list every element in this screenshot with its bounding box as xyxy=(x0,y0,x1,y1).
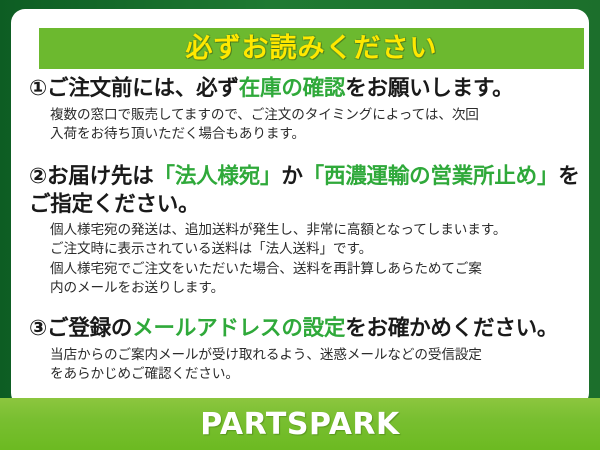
notice-item-2-body: 個人様宅宛の発送は、追加送料が発生し、非常に高額となってしまいます。 ご注文時に… xyxy=(50,221,589,298)
notice-item-2-head-part-2: か xyxy=(281,164,302,189)
notice-item-2-highlight-corporate: 「法人様宛」 xyxy=(154,164,282,189)
notice-item-1-highlight: 在庫の確認 xyxy=(239,76,346,101)
notice-item-1-head-part-0: ご注文前には、必ず xyxy=(47,76,239,101)
footer-bar: PARTSPARK xyxy=(0,398,600,450)
notice-item-3-highlight: メールアドレスの設定 xyxy=(132,316,345,341)
notice-item-1-head-part-2: をお願いします。 xyxy=(345,76,513,101)
notice-item-3-marker: ③ xyxy=(29,316,47,341)
notice-item-1-marker: ① xyxy=(29,76,47,101)
spacer-2 xyxy=(29,300,589,315)
spacer-1 xyxy=(29,146,589,163)
notice-item-2-highlight-seino: 「西濃運輸の営業所止め」 xyxy=(303,164,559,189)
notice-item-3-head-part-0: ご登録の xyxy=(47,316,132,341)
notice-item-3-body: 当店からのご案内メールが受け取れるよう、迷惑メールなどの受信設定 をあらかじめご… xyxy=(50,346,589,385)
notice-item-3-heading: ③ご登録のメールアドレスの設定をお確かめください。 xyxy=(29,315,589,343)
notice-item-1-heading: ①ご注文前には、必ず在庫の確認をお願いします。 xyxy=(29,75,589,103)
notice-banner: 必ずお読みください ①ご注文前には、必ず在庫の確認をお願いします。 複数の窓口で… xyxy=(0,0,600,450)
notice-item-3-head-part-2: をお確かめください。 xyxy=(345,316,558,341)
page-title: 必ずお読みください xyxy=(186,35,438,62)
title-bar: 必ずお読みください xyxy=(39,28,584,69)
notice-item-2: ②お届け先は「法人様宛」か「西濃運輸の営業所止め」をご指定ください。 個人様宅宛… xyxy=(29,163,589,298)
notice-item-2-heading: ②お届け先は「法人様宛」か「西濃運輸の営業所止め」をご指定ください。 xyxy=(29,163,589,218)
notice-item-1-body: 複数の窓口で販売してますので、ご注文のタイミングによっては、次回 入荷をお待ち頂… xyxy=(50,106,589,145)
notice-item-1: ①ご注文前には、必ず在庫の確認をお願いします。 複数の窓口で販売してますので、ご… xyxy=(29,75,589,144)
notice-item-2-head-part-0: お届け先は xyxy=(47,164,154,189)
white-card: 必ずお読みください ①ご注文前には、必ず在庫の確認をお願いします。 複数の窓口で… xyxy=(11,9,589,407)
brand-logo-partspark: PARTSPARK xyxy=(200,407,400,442)
notice-item-3: ③ご登録のメールアドレスの設定をお確かめください。 当店からのご案内メールが受け… xyxy=(29,315,589,384)
notice-item-2-marker: ② xyxy=(29,164,47,189)
notice-list: ①ご注文前には、必ず在庫の確認をお願いします。 複数の窓口で販売してますので、ご… xyxy=(11,75,589,386)
